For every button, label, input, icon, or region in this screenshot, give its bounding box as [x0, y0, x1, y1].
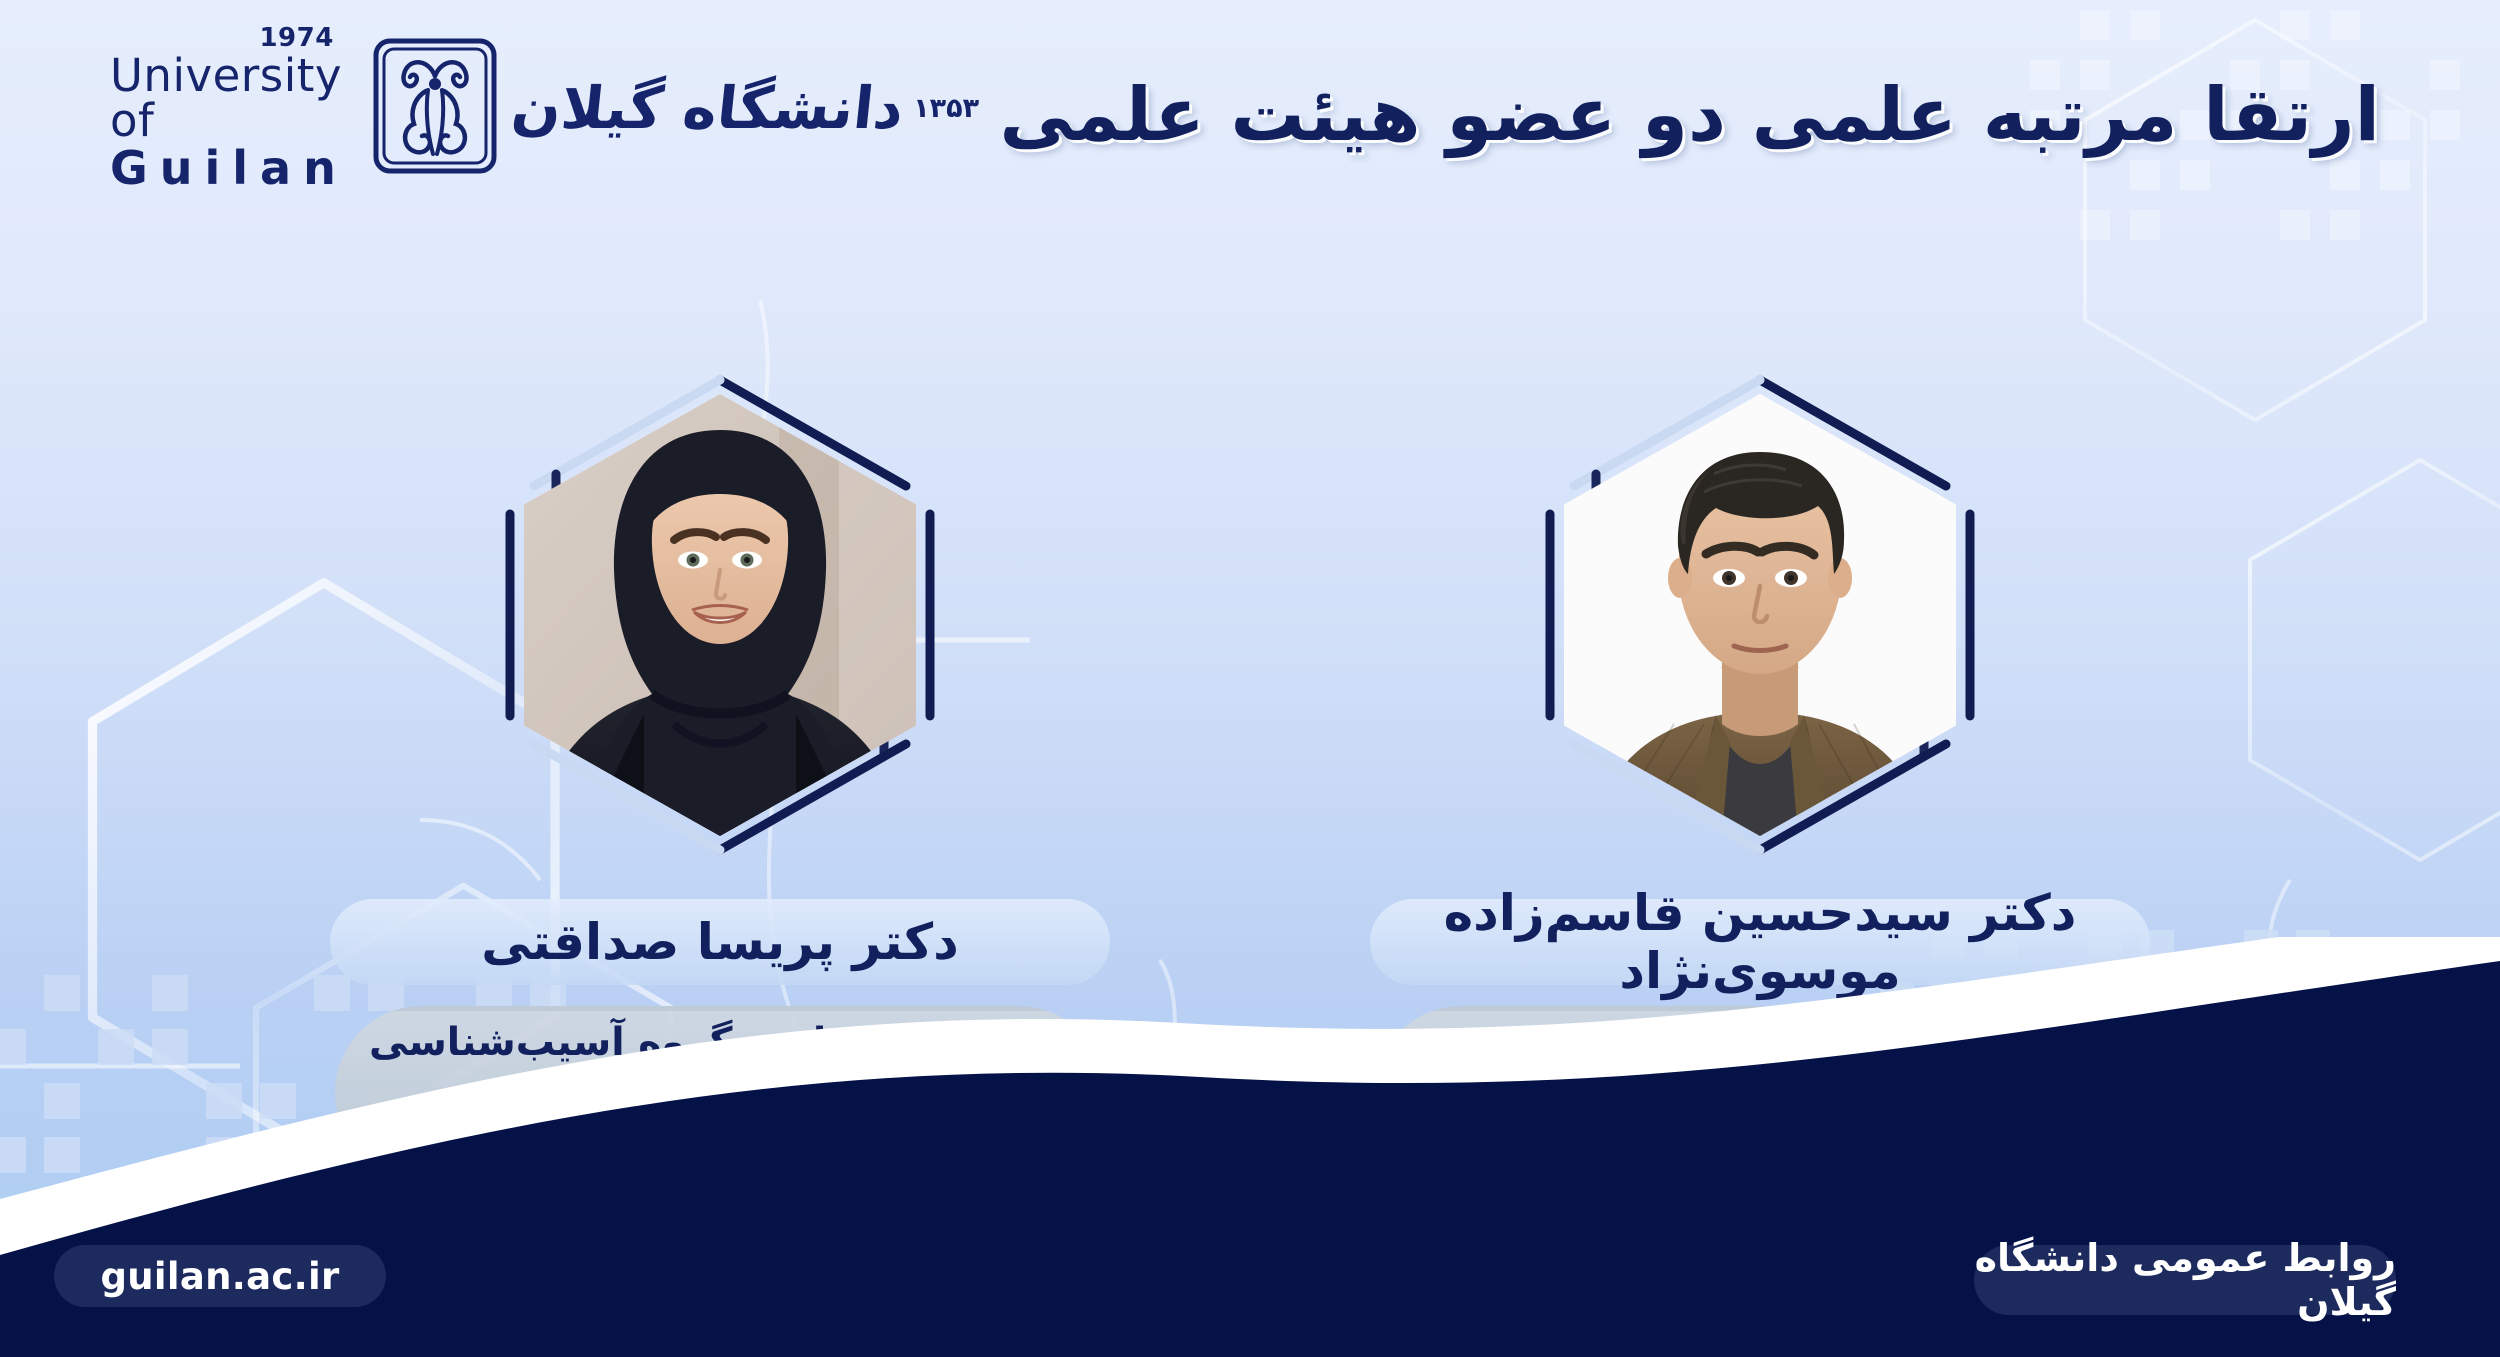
person-name-pill-right: دکتر سیدحسین قاسم‌زاده موسوی‌نژاد — [1365, 894, 2155, 990]
person-name-pill-left: دکتر پریسا صداقتی — [325, 894, 1115, 990]
page-title: ارتقا مرتبه علمی دو عضو هیئت علمی — [900, 72, 2380, 159]
person-name-right: دکتر سیدحسین قاسم‌زاده موسوی‌نژاد — [1370, 884, 2150, 1000]
logo-year-en: 1974 — [259, 25, 333, 51]
website-badge[interactable]: guilan.ac.ir — [50, 1241, 390, 1311]
public-relations-badge: روابط عمومی دانشگاه گیلان — [1970, 1241, 2400, 1319]
person-card-right: دکتر سیدحسین قاسم‌زاده موسوی‌نژاد عضو هی… — [1290, 380, 2230, 1178]
public-relations-label: روابط عمومی دانشگاه گیلان — [1974, 1236, 2396, 1324]
logo-university-word: University of — [110, 53, 358, 143]
person-name-left: دکتر پریسا صداقتی — [481, 913, 958, 971]
person-description-pill-right: عضو هیئت علمی گروه مهندسی عمران ارتقا به… — [1375, 1006, 2145, 1178]
logo-university-name-fa: دانشگاه گیلان — [508, 74, 906, 142]
website-url: guilan.ac.ir — [100, 1255, 339, 1298]
guilan-university-emblem-icon — [370, 36, 500, 180]
logo-english-text: 1974 University of Guilan — [110, 25, 358, 191]
university-logo: 1974 University of Guilan دانشگاه گیلان … — [110, 38, 800, 178]
poster-canvas: 1974 University of Guilan دانشگاه گیلان … — [0, 0, 2500, 1357]
portrait-hex-frame-right — [1550, 380, 1970, 850]
person-card-left: دکتر پریسا صداقتی عضو هیئت علمی گروه آسی… — [250, 380, 1190, 1178]
person-description-line-right-1: عضو هیئت علمی گروه مهندسی عمران — [1406, 1019, 2114, 1117]
person-description-line-left-2: و حرکات اصلاحی ارتقا به دانشیاری — [366, 1117, 1074, 1166]
person-description-line-right-2: ارتقا به استادی — [1406, 1117, 2114, 1166]
person-description-pill-left: عضو هیئت علمی گروه آسیب‌شناسی ورزشی و حر… — [335, 1006, 1105, 1178]
person-description-line-left-1: عضو هیئت علمی گروه آسیب‌شناسی ورزشی — [366, 1019, 1074, 1117]
portrait-hex-frame-left — [510, 380, 930, 850]
logo-university-name: Guilan — [110, 145, 348, 191]
